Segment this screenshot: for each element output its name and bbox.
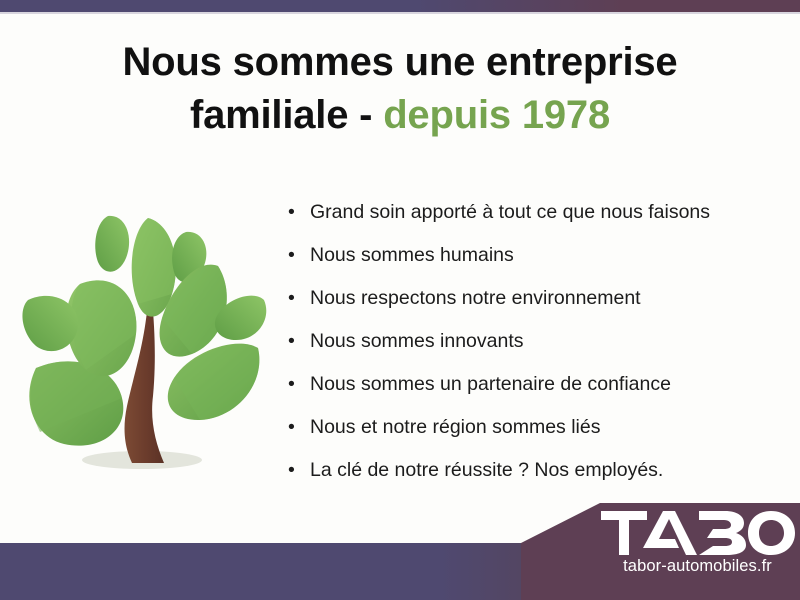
logo-panel: tabor-automobiles.fr bbox=[521, 503, 800, 600]
list-item: •La clé de notre réussite ? Nos employés… bbox=[286, 449, 786, 492]
page-title: Nous sommes une entreprise familiale - d… bbox=[40, 36, 760, 142]
bullet-marker-icon: • bbox=[288, 234, 295, 277]
leaf-top-small-left bbox=[95, 216, 129, 272]
headline-line-2-main: familiale - bbox=[190, 93, 383, 137]
list-item-label: Nous sommes innovants bbox=[310, 330, 524, 352]
bullet-marker-icon: • bbox=[288, 191, 295, 234]
list-item-label: Nous respectons notre environnement bbox=[310, 287, 641, 309]
slide-root: Nous sommes une entreprise familiale - d… bbox=[0, 0, 800, 600]
top-bar-hairline bbox=[0, 12, 800, 14]
list-item: •Nous sommes innovants bbox=[286, 320, 786, 363]
list-item-label: Nous sommes un partenaire de confiance bbox=[310, 373, 671, 395]
list-item-label: Nous et notre région sommes liés bbox=[310, 416, 600, 438]
list-item: •Nous respectons notre environnement bbox=[286, 277, 786, 320]
list-item-label: La clé de notre réussite ? Nos employés. bbox=[310, 459, 663, 481]
list-item-label: Grand soin apporté à tout ce que nous fa… bbox=[310, 201, 710, 223]
bullet-marker-icon: • bbox=[288, 449, 295, 492]
list-item: •Nous et notre région sommes liés bbox=[286, 406, 786, 449]
headline-line-1: Nous sommes une entreprise bbox=[40, 36, 760, 89]
bullet-marker-icon: • bbox=[288, 406, 295, 449]
list-item: •Nous sommes humains bbox=[286, 234, 786, 277]
bullet-marker-icon: • bbox=[288, 277, 295, 320]
top-accent-bar bbox=[0, 0, 800, 12]
list-item-label: Nous sommes humains bbox=[310, 244, 514, 266]
tabor-logo-wordmark bbox=[521, 511, 800, 555]
bullet-marker-icon: • bbox=[288, 320, 295, 363]
headline-line-2: familiale - depuis 1978 bbox=[40, 89, 760, 142]
tree-illustration bbox=[22, 192, 270, 480]
list-item: •Grand soin apporté à tout ce que nous f… bbox=[286, 191, 786, 234]
logo-url: tabor-automobiles.fr bbox=[521, 558, 800, 575]
headline-accent: depuis 1978 bbox=[383, 93, 610, 137]
list-item: •Nous sommes un partenaire de confiance bbox=[286, 363, 786, 406]
bullet-list: •Grand soin apporté à tout ce que nous f… bbox=[286, 191, 786, 492]
bullet-marker-icon: • bbox=[288, 363, 295, 406]
